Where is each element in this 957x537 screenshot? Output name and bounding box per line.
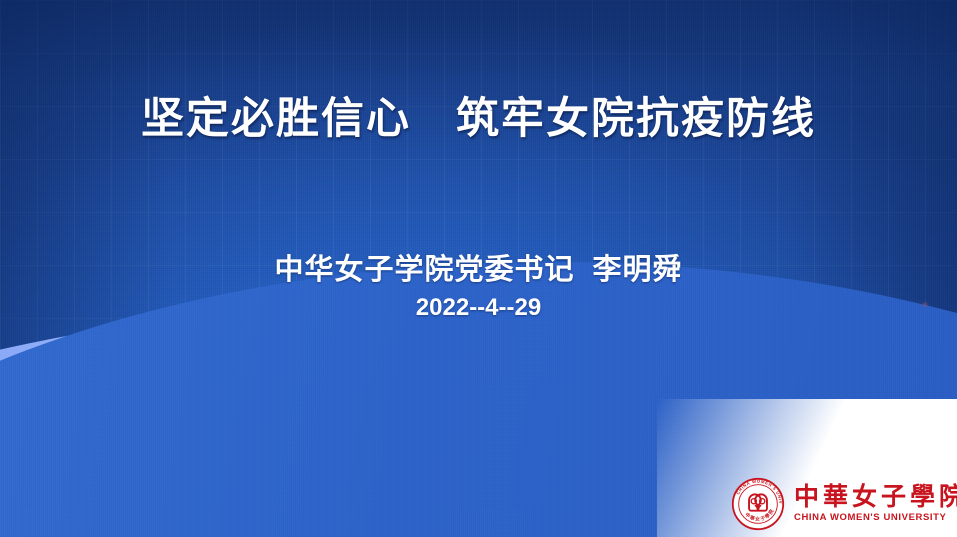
slide-subtitle: 中华女子学院党委书记 李明舜: [0, 246, 957, 288]
logo-chinese-name: 中華女子學院: [794, 485, 957, 510]
university-seal-icon: CHINA WOMEN'S UNIVERSITY 中華女子學院: [730, 476, 786, 532]
slide-date: 2022--4--29: [0, 294, 957, 322]
logo-wordmark: 中華女子學院 CHINA WOMEN'S UNIVERSITY: [794, 485, 957, 523]
presentation-slide: 坚定必胜信心 筑牢女院抗疫防线 中华女子学院党委书记 李明舜 2022--4--…: [0, 0, 957, 537]
university-logo: CHINA WOMEN'S UNIVERSITY 中華女子學院 中華女子學院 C…: [724, 473, 952, 535]
logo-english-name: CHINA WOMEN'S UNIVERSITY: [794, 513, 957, 523]
slide-title: 坚定必胜信心 筑牢女院抗疫防线: [0, 84, 957, 146]
